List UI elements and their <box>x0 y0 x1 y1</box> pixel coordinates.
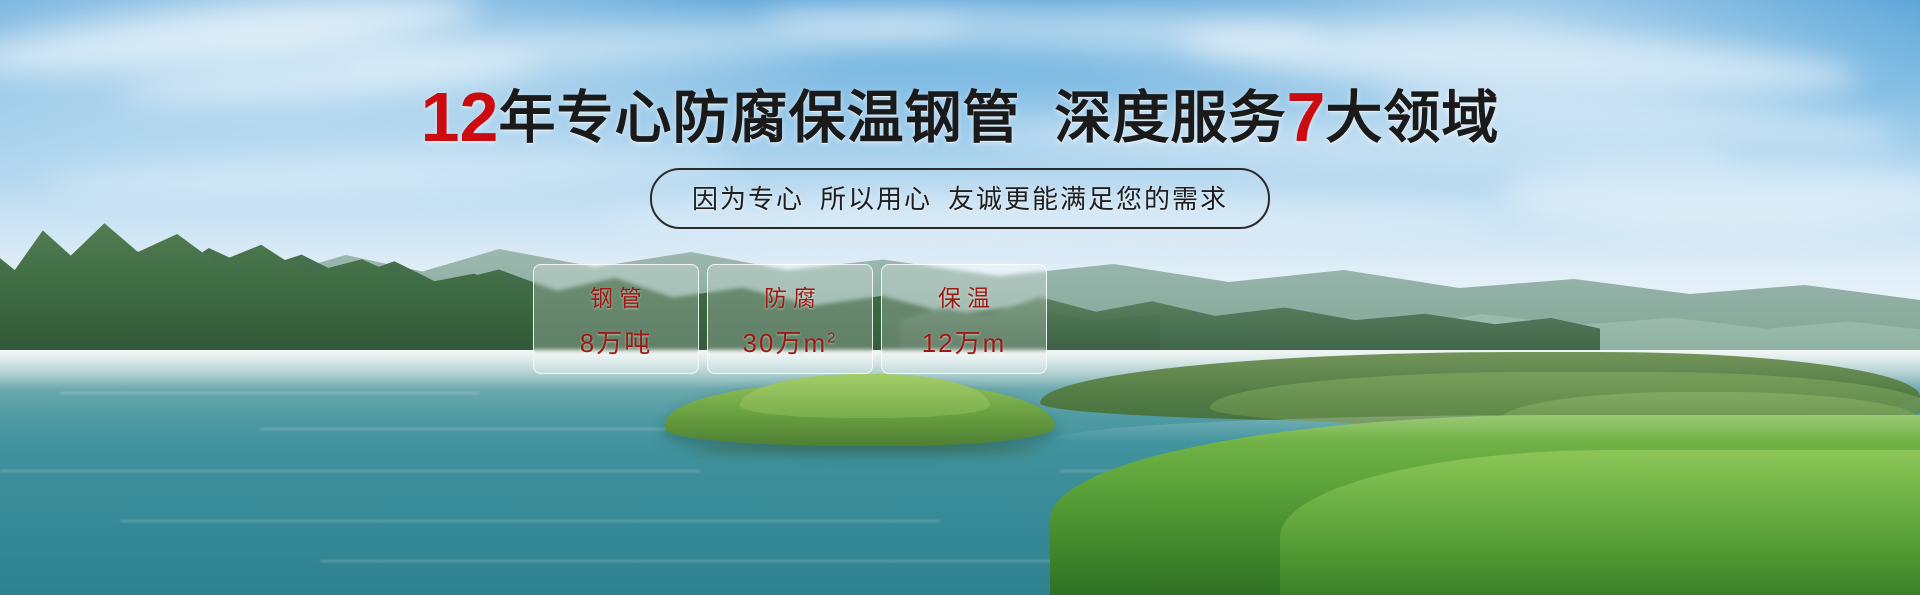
stat-card-label: 保温 <box>932 279 996 313</box>
headline-part-three: 大领域 <box>1325 86 1499 150</box>
stat-value-text: 12万m <box>922 328 1007 358</box>
subtitle-segment-three: 友诚更能满足您的需求 <box>948 184 1228 214</box>
water-ripple <box>0 470 700 472</box>
water-ripple <box>320 560 1080 562</box>
headline-highlight-number: 7 <box>1286 78 1325 156</box>
stat-value-superscript: 2 <box>827 329 837 346</box>
stat-card-value: 8万吨 <box>580 323 652 360</box>
stat-card-insulation[interactable]: 保温 12万m <box>881 264 1047 374</box>
water-ripple <box>60 392 480 394</box>
headline-part-one: 年专心防腐保温钢管 <box>498 86 1020 150</box>
banner-subtitle-pill: 因为专心所以用心友诚更能满足您的需求 <box>650 168 1270 229</box>
headline-part-two: 深度服务 <box>1054 86 1286 150</box>
stat-card-steel-pipe[interactable]: 钢管 8万吨 <box>533 264 699 374</box>
stat-card-label: 防腐 <box>758 279 822 313</box>
hero-banner: 12年专心防腐保温钢管深度服务7大领域 因为专心所以用心友诚更能满足您的需求 钢… <box>0 0 1920 595</box>
stat-card-value: 12万m <box>922 323 1007 360</box>
stat-card-value: 30万m2 <box>743 323 838 360</box>
stat-card-label: 钢管 <box>584 279 648 313</box>
headline-years-number: 12 <box>421 78 499 156</box>
subtitle-segment-one: 因为专心 <box>692 184 804 214</box>
stat-card-anticorrosion[interactable]: 防腐 30万m2 <box>707 264 873 374</box>
stat-value-text: 8万吨 <box>580 328 652 358</box>
banner-headline: 12年专心防腐保温钢管深度服务7大领域 <box>0 86 1920 149</box>
water-ripple <box>120 520 940 522</box>
subtitle-segment-two: 所以用心 <box>820 184 932 214</box>
stat-value-text: 30万m <box>743 328 828 358</box>
stat-card-group: 钢管 8万吨 防腐 30万m2 保温 12万m <box>533 264 1047 374</box>
cloud-shape <box>1500 160 1920 230</box>
